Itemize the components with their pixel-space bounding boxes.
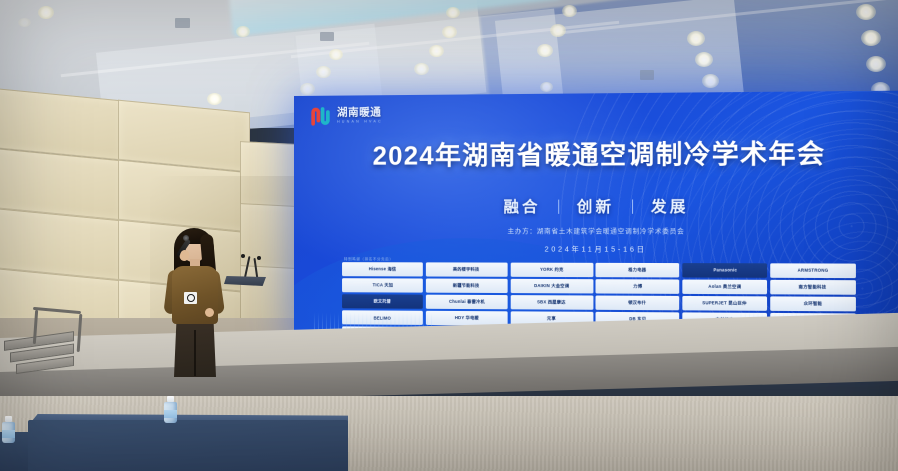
sponsor-logo-tile: 格力电器: [596, 263, 680, 277]
sponsor-logo-tile: DAIKIN 大金空调: [510, 279, 593, 293]
sponsor-logo-label: TICA 天加: [372, 282, 392, 288]
sponsor-logo-label: HDY 华电暖: [454, 315, 478, 321]
stage-steps: [0, 330, 120, 390]
slogan-word-3: 发展: [651, 195, 689, 217]
conference-photo-scene: 湖南暖通 HUNAN HVAC 2024年湖南省暖通空调制冷学术年会 融合 创新…: [0, 0, 898, 471]
organizer-line: 主办方：湖南省土木建筑学会暖通空调制冷学术委员会: [316, 226, 886, 236]
ceiling-downlight: [442, 26, 457, 38]
sponsor-logo-tile: ARMSTRONG: [770, 263, 856, 277]
slogan-word-1: 融合: [503, 196, 540, 217]
sponsor-logo-tile: 力博: [596, 279, 680, 293]
sponsor-logo-label: DAIKIN 大金空调: [534, 283, 569, 289]
ceiling-vent: [640, 70, 654, 80]
sponsor-logo-label: 南方智能科技: [799, 284, 827, 290]
sponsor-logo-tile: Aolan 奥兰空调: [682, 280, 767, 294]
bottle-cap: [5, 416, 12, 422]
ceiling-downlight: [861, 30, 881, 46]
ceiling-downlight: [414, 63, 429, 75]
ceiling-downlight: [856, 4, 876, 20]
sponsor-logo-label: 新疆节能科技: [453, 283, 479, 289]
sponsor-logo-label: 众环智能: [804, 301, 823, 307]
sponsor-logo-label: SUPERJET 昆山巨仲: [703, 300, 747, 306]
speaker-note-card: [184, 292, 197, 304]
gooseneck-mic-head: [257, 256, 261, 260]
ceiling-downlight: [702, 74, 719, 88]
ceiling-downlight: [866, 56, 886, 72]
speaker-person: [150, 226, 240, 376]
gooseneck-mic-head: [241, 254, 245, 258]
ceiling-downlight: [329, 49, 343, 60]
conference-title: 2024年湖南省暖通空调制冷学术年会: [316, 132, 886, 172]
hunan-hvac-logo: 湖南暖通 HUNAN HVAC: [310, 105, 383, 127]
sponsors-label: 特别鸣谢（排名不分先后）: [344, 256, 393, 261]
sponsor-logo-label: SBX 西屋康达: [537, 299, 566, 305]
sponsor-logo-label: Hisense 海信: [369, 266, 396, 272]
ceiling-downlight: [550, 24, 566, 37]
sponsor-logo-tile: 欧文托普: [342, 294, 423, 308]
ceiling-downlight: [446, 7, 460, 18]
water-bottle: [2, 416, 15, 443]
logo-name-latin: HUNAN HVAC: [337, 120, 383, 124]
ceiling-downlight: [695, 52, 713, 67]
ceiling-downlight: [540, 82, 553, 92]
led-stage-screen: 湖南暖通 HUNAN HVAC 2024年湖南省暖通空调制冷学术年会 融合 创新…: [294, 91, 898, 354]
sponsor-logo-tile: 新疆节能科技: [426, 279, 508, 293]
sponsor-logo-tile: Panasonic: [682, 263, 767, 277]
sponsor-logo-tile: 美的楼宇科技: [426, 262, 508, 276]
sponsor-logo-label: Chunlai 春雷冷机: [449, 299, 485, 305]
slogan-word-2: 创新: [577, 195, 614, 216]
ceiling-downlight: [429, 45, 444, 57]
sponsor-logo-tile: 南方智能科技: [770, 280, 856, 294]
water-bottle: [164, 396, 177, 423]
microphone-head: [183, 235, 189, 241]
sponsor-logo-tile: YORK 约克: [510, 263, 593, 277]
sponsor-logo-label: Aolan 奥兰空调: [708, 284, 741, 290]
sponsor-logo-label: 格力电器: [629, 267, 647, 273]
sponsor-logo-label: YORK 约克: [540, 267, 563, 273]
ceiling-downlight: [18, 18, 31, 27]
sponsor-logo-label: 元享: [547, 316, 556, 322]
ceiling-downlight: [38, 6, 54, 19]
conference-slogan: 融合 创新 发展: [316, 195, 886, 217]
sponsor-logo-label: 欧文托普: [374, 298, 391, 304]
sponsor-logo-label: 力博: [633, 283, 642, 289]
sponsor-logo-label: Panasonic: [713, 268, 737, 273]
sponsor-logo-label: 顿汉布什: [629, 300, 647, 306]
head-table: [28, 420, 348, 471]
ceiling-downlight: [537, 44, 553, 57]
ceiling-downlight: [562, 5, 577, 17]
ceiling-downlight: [687, 31, 705, 46]
slogan-divider: [558, 199, 559, 213]
sponsor-logo-tile: 顿汉布什: [596, 296, 680, 310]
ceiling-downlight: [236, 26, 250, 37]
hunan-hvac-n-logo-icon: [310, 106, 331, 127]
sponsor-logo-tile: Hisense 海信: [342, 262, 423, 276]
slogan-divider: [632, 199, 633, 213]
sponsor-logo-tile: TICA 天加: [342, 278, 423, 292]
ceiling-downlight: [316, 66, 331, 78]
logo-name-cn: 湖南暖通: [337, 108, 383, 119]
sponsor-logo-label: 美的楼宇科技: [453, 266, 479, 272]
speaker-right-hand: [205, 308, 214, 317]
bottle-cap: [167, 396, 174, 402]
conference-date: 2024年11月15-16日: [316, 244, 886, 255]
ceiling-vent: [175, 18, 190, 28]
speaker-trouser-seam: [194, 330, 196, 376]
sponsor-logo-tile: Chunlai 春雷冷机: [426, 295, 508, 309]
ceiling-vent: [320, 32, 334, 41]
sponsor-logo-tile: SBX 西屋康达: [510, 295, 593, 309]
note-card-logo: [187, 294, 195, 302]
sponsor-logo-label: ARMSTRONG: [797, 268, 828, 273]
